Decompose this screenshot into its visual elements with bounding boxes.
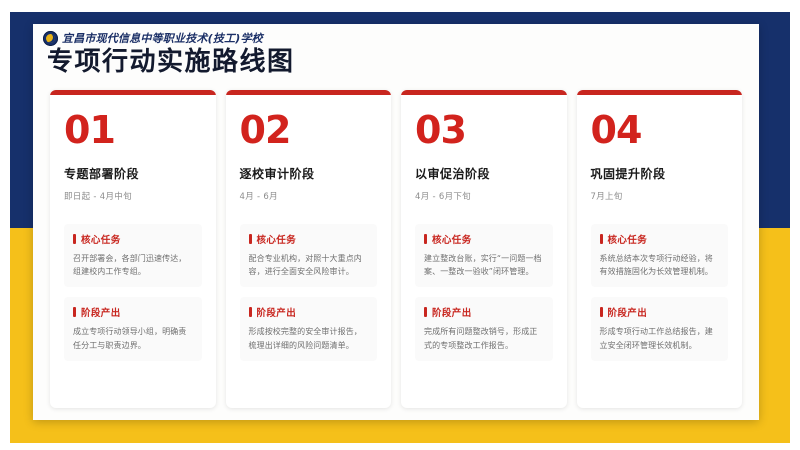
core-task-block: 核心任务 召开部署会，各部门迅速传达，组建校内工作专组。 [64,224,202,287]
output-text: 形成专项行动工作总结报告，建立安全闭环管理长效机制。 [600,325,720,351]
output-text: 形成按校完整的安全审计报告，梳理出详细的风险问题清单。 [249,325,369,351]
output-header: 阶段产出 [600,305,720,319]
school-emblem-icon [43,31,58,46]
card-number: 04 [591,111,729,149]
marker-bar-icon [600,234,603,244]
card-phase-title: 专题部署阶段 [64,165,202,182]
marker-bar-icon [73,234,76,244]
card-date-range: 7月上旬 [591,190,729,202]
core-task-text: 配合专业机构，对照十大重点内容，进行全面安全风险审计。 [249,252,369,278]
core-task-header: 核心任务 [249,232,369,246]
page-title: 专项行动实施路线图 [47,48,759,77]
marker-bar-icon [73,307,76,317]
card-date-range: 4月 - 6月下旬 [415,190,553,202]
core-task-label: 核心任务 [432,232,472,246]
output-block: 阶段产出 形成专项行动工作总结报告，建立安全闭环管理长效机制。 [591,297,729,360]
card-body: 03 以审促治阶段 4月 - 6月下旬 核心任务 建立整改台账，实行“一问题一档… [401,95,567,408]
card-phase-title: 巩固提升阶段 [591,165,729,182]
card-body: 04 巩固提升阶段 7月上旬 核心任务 系统总结本次专项行动经验，将有效措施固化… [577,95,743,408]
marker-bar-icon [249,234,252,244]
phase-card[interactable]: 03 以审促治阶段 4月 - 6月下旬 核心任务 建立整改台账，实行“一问题一档… [401,90,567,408]
marker-bar-icon [424,234,427,244]
output-label: 阶段产出 [257,305,297,319]
core-task-text: 召开部署会，各部门迅速传达，组建校内工作专组。 [73,252,193,278]
core-task-block: 核心任务 系统总结本次专项行动经验，将有效措施固化为长效管理机制。 [591,224,729,287]
phase-card[interactable]: 02 逐校审计阶段 4月 - 6月 核心任务 配合专业机构，对照十大重点内容，进… [226,90,392,408]
core-task-label: 核心任务 [608,232,648,246]
core-task-label: 核心任务 [81,232,121,246]
card-date-range: 即日起 - 4月中旬 [64,190,202,202]
card-number: 02 [240,111,378,149]
card-number: 03 [415,111,553,149]
card-body: 01 专题部署阶段 即日起 - 4月中旬 核心任务 召开部署会，各部门迅速传达，… [50,95,216,408]
card-phase-title: 逐校审计阶段 [240,165,378,182]
core-task-header: 核心任务 [73,232,193,246]
output-block: 阶段产出 完成所有问题整改销号，形成正式的专项整改工作报告。 [415,297,553,360]
output-label: 阶段产出 [81,305,121,319]
core-task-label: 核心任务 [257,232,297,246]
output-header: 阶段产出 [73,305,193,319]
school-name-label: 宜昌市现代信息中等职业技术(技工)学校 [62,30,263,46]
core-task-block: 核心任务 建立整改台账，实行“一问题一档案、一整改一验收”闭环管理。 [415,224,553,287]
output-block: 阶段产出 成立专项行动领导小组，明确责任分工与职责边界。 [64,297,202,360]
slide-header: 宜昌市现代信息中等职业技术(技工)学校 专项行动实施路线图 [33,24,759,77]
output-text: 完成所有问题整改销号，形成正式的专项整改工作报告。 [424,325,544,351]
output-label: 阶段产出 [608,305,648,319]
phase-card-grid: 01 专题部署阶段 即日起 - 4月中旬 核心任务 召开部署会，各部门迅速传达，… [50,90,742,408]
slide-root: 宜昌市现代信息中等职业技术(技工)学校 专项行动实施路线图 01 专题部署阶段 … [0,0,800,450]
marker-bar-icon [424,307,427,317]
slide-canvas: 宜昌市现代信息中等职业技术(技工)学校 专项行动实施路线图 01 专题部署阶段 … [33,24,759,420]
output-header: 阶段产出 [249,305,369,319]
card-date-range: 4月 - 6月 [240,190,378,202]
output-header: 阶段产出 [424,305,544,319]
output-block: 阶段产出 形成按校完整的安全审计报告，梳理出详细的风险问题清单。 [240,297,378,360]
output-text: 成立专项行动领导小组，明确责任分工与职责边界。 [73,325,193,351]
marker-bar-icon [600,307,603,317]
core-task-text: 建立整改台账，实行“一问题一档案、一整改一验收”闭环管理。 [424,252,544,278]
phase-card[interactable]: 01 专题部署阶段 即日起 - 4月中旬 核心任务 召开部署会，各部门迅速传达，… [50,90,216,408]
card-body: 02 逐校审计阶段 4月 - 6月 核心任务 配合专业机构，对照十大重点内容，进… [226,95,392,408]
marker-bar-icon [249,307,252,317]
school-identity-row: 宜昌市现代信息中等职业技术(技工)学校 [43,30,759,46]
core-task-header: 核心任务 [424,232,544,246]
phase-card[interactable]: 04 巩固提升阶段 7月上旬 核心任务 系统总结本次专项行动经验，将有效措施固化… [577,90,743,408]
card-number: 01 [64,111,202,149]
core-task-header: 核心任务 [600,232,720,246]
core-task-block: 核心任务 配合专业机构，对照十大重点内容，进行全面安全风险审计。 [240,224,378,287]
output-label: 阶段产出 [432,305,472,319]
card-phase-title: 以审促治阶段 [415,165,553,182]
core-task-text: 系统总结本次专项行动经验，将有效措施固化为长效管理机制。 [600,252,720,278]
